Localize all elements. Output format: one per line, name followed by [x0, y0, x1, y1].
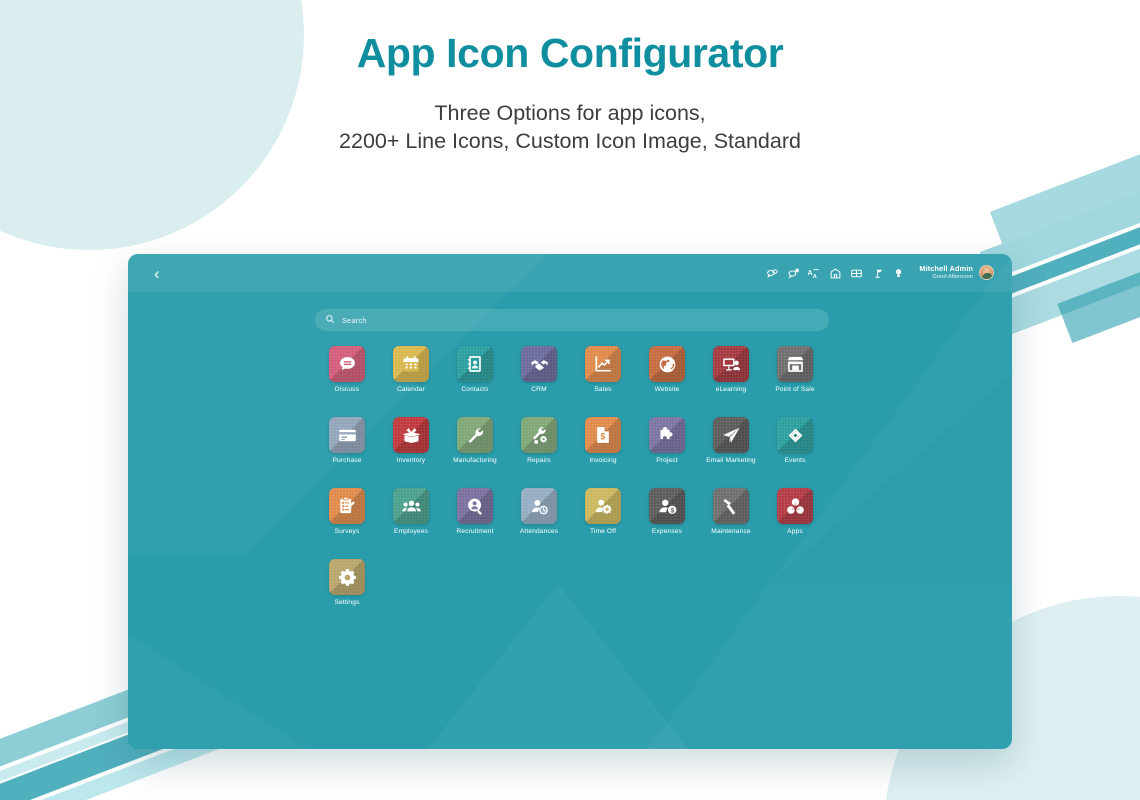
app-label: Calendar: [397, 386, 425, 393]
employees-icon: [393, 488, 429, 524]
app-label: Repairs: [527, 457, 551, 464]
app-label: Invoicing: [589, 457, 616, 464]
app-calendar[interactable]: Calendar: [379, 346, 443, 393]
project-puzzle-icon: [649, 417, 685, 453]
inventory-box-icon: [393, 417, 429, 453]
app-label: Email Marketing: [706, 457, 756, 464]
attendances-icon: [521, 488, 557, 524]
manufacturing-icon: [457, 417, 493, 453]
user-name: Mitchell Admin: [919, 265, 973, 274]
website-globe-icon: [649, 346, 685, 382]
app-label: Discuss: [335, 386, 359, 393]
app-label: Project: [656, 457, 678, 464]
expenses-icon: $: [649, 488, 685, 524]
app-time-off[interactable]: Time Off: [571, 488, 635, 535]
window-topbar: ‹: [128, 254, 1012, 292]
app-label: Attendances: [520, 528, 558, 535]
calendar-icon: [393, 346, 429, 382]
contacts-icon: [457, 346, 493, 382]
app-expenses[interactable]: $ Expenses: [635, 488, 699, 535]
user-avatar[interactable]: [979, 265, 994, 280]
app-label: Inventory: [397, 457, 425, 464]
app-label: Apps: [787, 528, 803, 535]
activities-icon[interactable]: [787, 267, 800, 280]
app-inventory[interactable]: Inventory: [379, 417, 443, 464]
app-settings[interactable]: Settings: [315, 559, 379, 606]
search-bar[interactable]: Search: [315, 309, 829, 331]
repairs-icon: [521, 417, 557, 453]
back-chevron-icon[interactable]: ‹: [154, 265, 160, 282]
app-surveys[interactable]: Surveys: [315, 488, 379, 535]
app-label: Point of Sale: [775, 386, 814, 393]
page-root: App Icon Configurator Three Options for …: [0, 0, 1140, 800]
apps-blocks-icon: [777, 488, 813, 524]
app-attendances[interactable]: Attendances: [507, 488, 571, 535]
recruitment-icon: [457, 488, 493, 524]
user-text: Mitchell Admin Good Afternoon: [919, 265, 973, 280]
surveys-icon: [329, 488, 365, 524]
app-sales[interactable]: Sales: [571, 346, 635, 393]
page-heading-block: App Icon Configurator Three Options for …: [0, 0, 1140, 155]
search-icon: [325, 311, 335, 329]
app-contacts[interactable]: Contacts: [443, 346, 507, 393]
timeoff-icon: [585, 488, 621, 524]
app-project[interactable]: Project: [635, 417, 699, 464]
app-invoicing[interactable]: $ Invoicing: [571, 417, 635, 464]
search-placeholder: Search: [342, 316, 367, 325]
apps-grid-icon[interactable]: [850, 267, 863, 280]
page-title: App Icon Configurator: [0, 30, 1140, 77]
app-crm[interactable]: CRM: [507, 346, 571, 393]
app-label: Maintenance: [711, 528, 750, 535]
maintenance-icon: [713, 488, 749, 524]
page-subtitle: Three Options for app icons, 2200+ Line …: [0, 99, 1140, 155]
app-elearning[interactable]: eLearning: [699, 346, 763, 393]
lightbulb-icon[interactable]: [892, 267, 905, 280]
bug-icon[interactable]: [871, 267, 884, 280]
elearning-icon: [713, 346, 749, 382]
page-subtitle-line-1: Three Options for app icons,: [0, 99, 1140, 127]
app-events[interactable]: Events: [763, 417, 827, 464]
app-maintenance[interactable]: Maintenance: [699, 488, 763, 535]
app-label: Manufacturing: [453, 457, 497, 464]
invoicing-icon: $: [585, 417, 621, 453]
user-greeting: Good Afternoon: [919, 274, 973, 281]
app-point-of-sale[interactable]: Point of Sale: [763, 346, 827, 393]
app-label: Events: [784, 457, 805, 464]
app-purchase[interactable]: Purchase: [315, 417, 379, 464]
crm-handshake-icon: [521, 346, 557, 382]
svg-text:A: A: [813, 273, 817, 279]
app-website[interactable]: Website: [635, 346, 699, 393]
app-label: Purchase: [332, 457, 361, 464]
systray-icons: A A: [766, 254, 1012, 292]
app-employees[interactable]: Employees: [379, 488, 443, 535]
translate-icon[interactable]: A A: [808, 267, 821, 280]
messages-icon[interactable]: [766, 267, 779, 280]
app-label: Settings: [334, 599, 359, 606]
app-email-marketing[interactable]: Email Marketing: [699, 417, 763, 464]
app-label: CRM: [531, 386, 546, 393]
page-subtitle-line-2: 2200+ Line Icons, Custom Icon Image, Sta…: [0, 127, 1140, 155]
app-repairs[interactable]: Repairs: [507, 417, 571, 464]
app-label: Contacts: [461, 386, 488, 393]
svg-text:A: A: [808, 270, 813, 277]
app-window-mockup: ‹: [128, 254, 1012, 749]
app-manufacturing[interactable]: Manufacturing: [443, 417, 507, 464]
events-ticket-icon: [777, 417, 813, 453]
app-grid: Discuss: [315, 346, 835, 606]
app-label: Sales: [594, 386, 611, 393]
sales-chart-icon: [585, 346, 621, 382]
app-label: Website: [655, 386, 680, 393]
enterprise-icon[interactable]: [829, 267, 842, 280]
app-recruitment[interactable]: Recruitment: [443, 488, 507, 535]
app-label: eLearning: [716, 386, 747, 393]
svg-text:$: $: [670, 507, 674, 514]
app-label: Recruitment: [456, 528, 493, 535]
app-apps[interactable]: Apps: [763, 488, 827, 535]
app-label: Surveys: [335, 528, 360, 535]
email-marketing-icon: [713, 417, 749, 453]
user-menu[interactable]: Mitchell Admin Good Afternoon: [919, 265, 994, 280]
settings-gear-icon: [329, 559, 365, 595]
app-label: Expenses: [652, 528, 682, 535]
app-discuss[interactable]: Discuss: [315, 346, 379, 393]
discuss-icon: [329, 346, 365, 382]
app-label: Time Off: [590, 528, 616, 535]
point-of-sale-icon: [777, 346, 813, 382]
svg-text:$: $: [600, 431, 605, 441]
app-label: Employees: [394, 528, 428, 535]
purchase-card-icon: [329, 417, 365, 453]
